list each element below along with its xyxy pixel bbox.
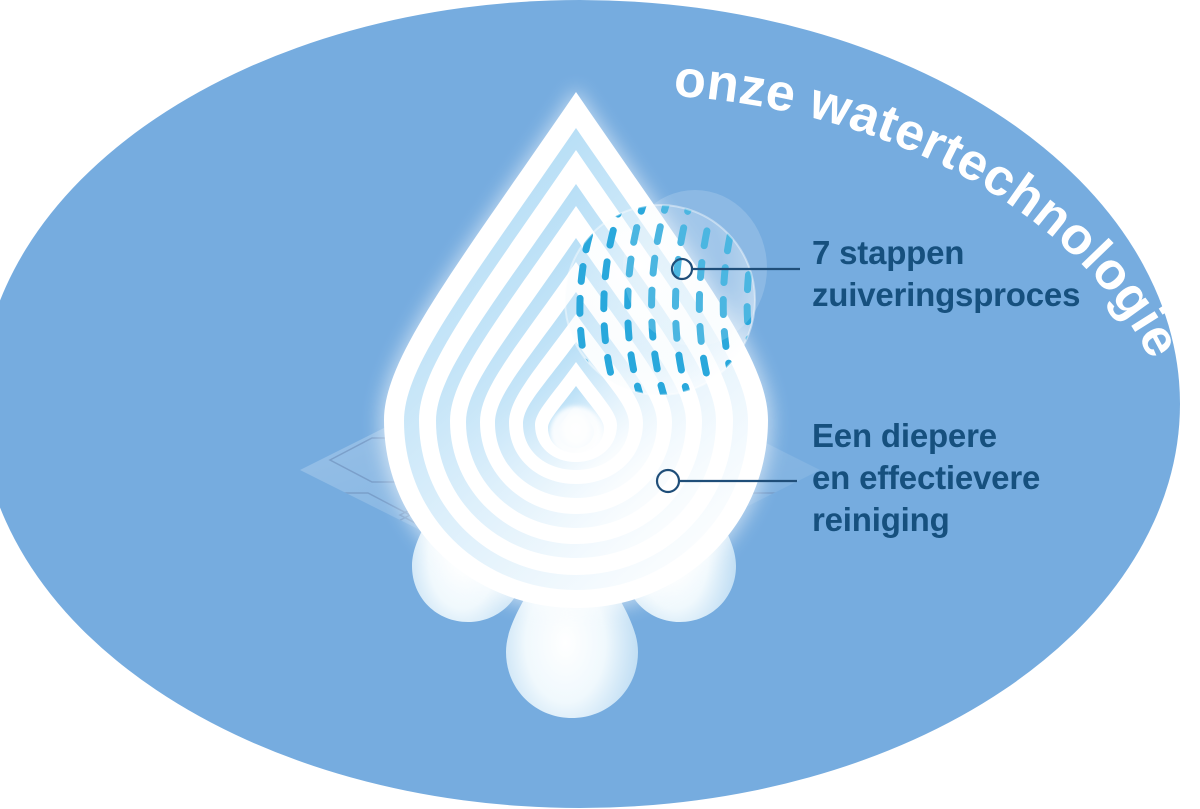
infographic-canvas: onze watertechnologie bbox=[0, 0, 1200, 809]
water-technology-illustration: onze watertechnologie bbox=[0, 0, 1200, 809]
